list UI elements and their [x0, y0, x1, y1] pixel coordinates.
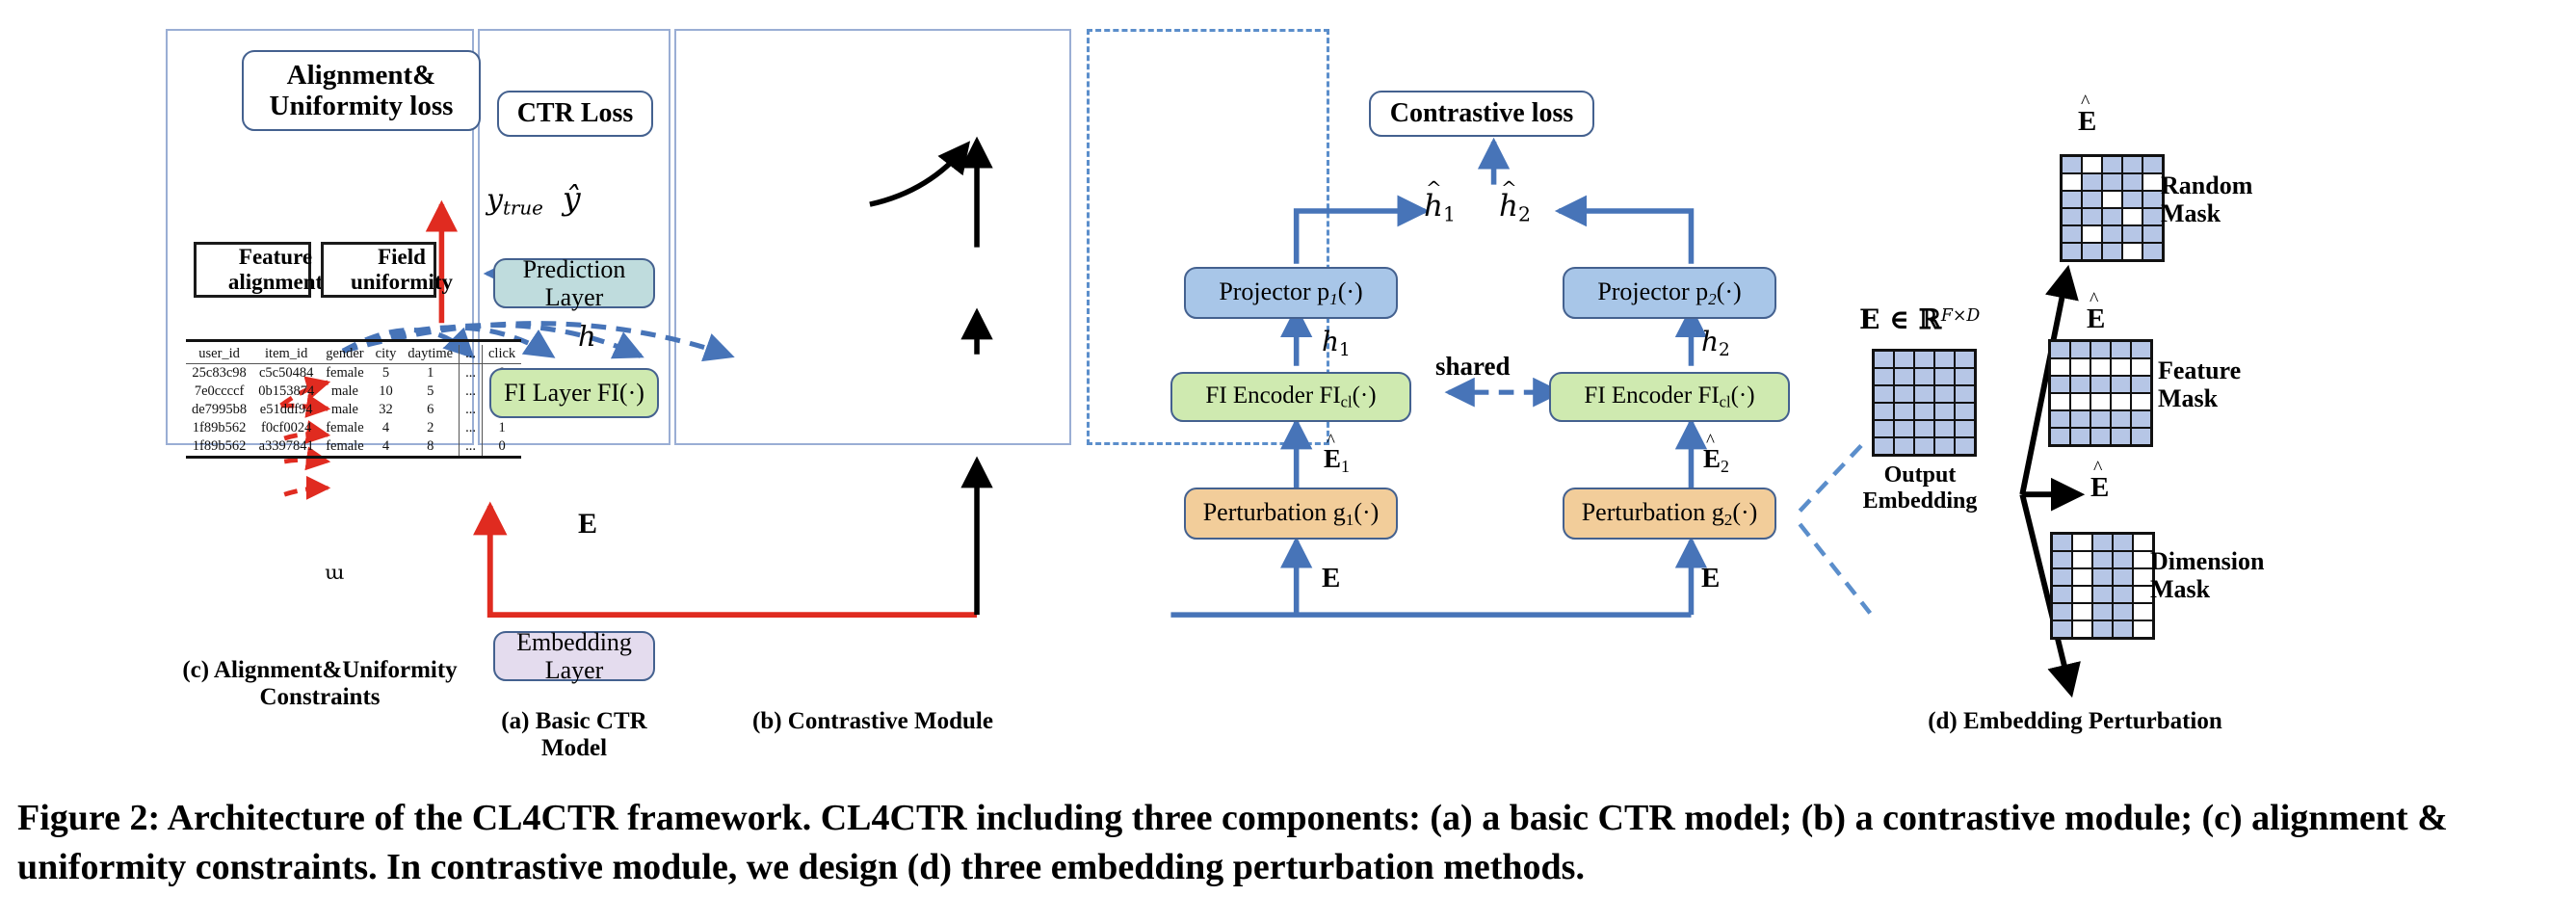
- table-cell: 1f89b562: [186, 419, 252, 437]
- y-true-label: ytrue: [486, 183, 543, 220]
- output-embedding-label: Output Embedding: [1833, 462, 2007, 514]
- grid-cell: [1915, 438, 1933, 454]
- h-hat-2-label: ^ h2: [1499, 189, 1531, 226]
- grid-cell: [2134, 621, 2152, 637]
- embedding-layer-label: Embedding Layer: [495, 628, 653, 684]
- grid-cell: [2083, 157, 2101, 172]
- perturbation-1-label: Perturbation g1(·): [1203, 498, 1380, 529]
- h1-label: h1: [1322, 326, 1351, 360]
- grid-cell: [2143, 174, 2162, 190]
- fi-layer-box: FI Layer FI(·): [489, 368, 659, 418]
- grid-cell: [2053, 535, 2071, 550]
- feature-mask-line1: Feature: [2158, 356, 2341, 384]
- grid-cell: [2093, 569, 2112, 585]
- grid-cell: [1895, 369, 1913, 384]
- table-cell: 5: [402, 382, 459, 401]
- e-hat-label-feature: ^ E: [2087, 303, 2105, 335]
- panel-c-label-line1: (c) Alignment&Uniformity: [175, 657, 464, 684]
- table-cell: e51ddf94: [252, 401, 320, 419]
- table-cell: ...: [460, 401, 483, 419]
- projector-1-box: Projector p1(·): [1184, 267, 1398, 319]
- dimension-mask-grid: [2050, 532, 2155, 640]
- panel-a-label-text: (a) Basic CTR Model: [501, 708, 646, 761]
- ctr-loss-label: CTR Loss: [517, 98, 634, 128]
- grid-cell: [1935, 421, 1954, 436]
- grid-cell: [2071, 394, 2090, 409]
- table-cell: 25c83c98: [186, 364, 252, 383]
- grid-cell: [1875, 404, 1893, 419]
- grid-cell: [2143, 157, 2162, 172]
- grid-cell: [2114, 552, 2132, 567]
- grid-cell: [1915, 369, 1933, 384]
- table-col-header: city: [370, 345, 403, 364]
- table-cell: male: [320, 382, 369, 401]
- table-cell: 5: [370, 364, 403, 383]
- grid-cell: [1935, 438, 1954, 454]
- h-hat-1-label: ^ h1: [1424, 189, 1456, 226]
- grid-cell: [2053, 587, 2071, 602]
- table-cell: female: [320, 419, 369, 437]
- shared-label: shared: [1435, 352, 1511, 382]
- grid-cell: [2093, 552, 2112, 567]
- grid-cell: [2123, 174, 2142, 190]
- grid-cell: [2091, 429, 2110, 444]
- grid-cell: [2112, 377, 2130, 392]
- grid-cell: [2103, 157, 2121, 172]
- grid-cell: [2051, 359, 2069, 375]
- grid-cell: [2091, 394, 2110, 409]
- fi-encoder-2-box: FI Encoder FIcl(·): [1549, 372, 1790, 422]
- grid-cell: [2073, 552, 2091, 567]
- grid-cell: [2132, 359, 2150, 375]
- field-uniformity-box: Field uniformity: [321, 242, 436, 298]
- grid-cell: [2051, 429, 2069, 444]
- alignment-uniformity-loss-box: Alignment& Uniformity loss: [242, 50, 481, 131]
- grid-cell: [2132, 394, 2150, 409]
- grid-cell: [2114, 569, 2132, 585]
- grid-cell: [1875, 386, 1893, 402]
- grid-cell: [2063, 226, 2081, 242]
- feature-mask-line2: Mask: [2158, 384, 2341, 412]
- panel-c-label: (c) Alignment&Uniformity Constraints: [175, 657, 464, 711]
- e-hat-2-label: ^ E2: [1703, 444, 1729, 477]
- grid-cell: [2112, 411, 2130, 427]
- grid-cell: [2083, 226, 2101, 242]
- table-cell: ...: [460, 419, 483, 437]
- random-mask-line2: Mask: [2161, 199, 2344, 227]
- grid-cell: [2051, 411, 2069, 427]
- grid-cell: [2123, 209, 2142, 224]
- grid-cell: [2132, 342, 2150, 357]
- grid-cell: [1956, 386, 1974, 402]
- random-mask-grid: [2060, 154, 2165, 262]
- grid-cell: [2071, 377, 2090, 392]
- grid-cell: [1915, 404, 1933, 419]
- table-col-header: gender: [320, 345, 369, 364]
- grid-cell: [2143, 192, 2162, 207]
- table-cell: c5c50484: [252, 364, 320, 383]
- grid-cell: [2132, 377, 2150, 392]
- table-row: de7995b8 e51ddf94 male 32 6 ... 1: [186, 401, 521, 419]
- grid-cell: [2073, 569, 2091, 585]
- grid-cell: [2051, 377, 2069, 392]
- grid-cell: [2103, 209, 2121, 224]
- table-cell: 0b153874: [252, 382, 320, 401]
- grid-cell: [2091, 411, 2110, 427]
- y-true-symbol: y: [486, 183, 503, 217]
- panel-d-label-text: (d) Embedding Perturbation: [1928, 708, 2222, 734]
- panel-b-contrastive-module: [674, 29, 1071, 445]
- e-input-1-label: E: [1322, 563, 1340, 594]
- projector-2-label: Projector p2(·): [1597, 277, 1741, 308]
- output-embedding-line1: Output: [1833, 462, 2007, 488]
- table-cell: female: [320, 437, 369, 458]
- grid-cell: [2091, 342, 2110, 357]
- table-cell: 4: [370, 419, 403, 437]
- table-cell: 1f89b562: [186, 437, 252, 458]
- grid-cell: [2103, 174, 2121, 190]
- y-hat-label: ŷ: [563, 179, 581, 217]
- feature-alignment-line1: Feature: [239, 245, 312, 270]
- fi-encoder-2-label: FI Encoder FIcl(·): [1584, 382, 1754, 411]
- grid-cell: [2112, 359, 2130, 375]
- grid-cell: [2114, 621, 2132, 637]
- random-mask-label: Random Mask: [2161, 171, 2344, 227]
- grid-cell: [2123, 226, 2142, 242]
- e-hat-label-dimension: ^ E: [2090, 472, 2109, 504]
- h2-label: h2: [1701, 326, 1730, 360]
- table-cell: 0: [482, 437, 521, 458]
- panel-b-label-text: (b) Contrastive Module: [752, 708, 993, 734]
- field-uniformity-line1: Field: [378, 245, 426, 270]
- grid-cell: [2132, 429, 2150, 444]
- feature-table: user_id item_id gender city daytime ... …: [186, 339, 521, 461]
- table-cell: 1: [482, 419, 521, 437]
- perturbation-2-label: Perturbation g2(·): [1582, 498, 1758, 529]
- grid-cell: [1875, 421, 1893, 436]
- e-hat-label-random: ^ E: [2078, 106, 2096, 138]
- table-cell: 1: [402, 364, 459, 383]
- output-embedding-line2: Embedding: [1833, 488, 2007, 514]
- grid-cell: [1956, 404, 1974, 419]
- table-cell: ...: [460, 364, 483, 383]
- grid-cell: [1935, 404, 1954, 419]
- e-label-panel-a: E: [578, 508, 597, 541]
- table-row: 1f89b562 f0cf0024 female 4 2 ... 1: [186, 419, 521, 437]
- fi-layer-label: FI Layer FI(·): [504, 379, 644, 407]
- grid-cell: [2063, 192, 2081, 207]
- grid-cell: [2073, 621, 2091, 637]
- grid-cell: [2093, 535, 2112, 550]
- grid-cell: [2073, 604, 2091, 620]
- dimension-mask-line2: Mask: [2150, 575, 2372, 603]
- grid-cell: [2123, 192, 2142, 207]
- grid-cell: [1875, 352, 1893, 367]
- grid-cell: [2093, 587, 2112, 602]
- grid-cell: [2053, 621, 2071, 637]
- grid-cell: [2093, 621, 2112, 637]
- grid-cell: [1895, 386, 1913, 402]
- embedding-layer-box: Embedding Layer: [493, 631, 655, 681]
- grid-cell: [2071, 359, 2090, 375]
- grid-cell: [2083, 244, 2101, 259]
- grid-cell: [2083, 174, 2101, 190]
- grid-cell: [2073, 535, 2091, 550]
- h-label-panel-a: h: [578, 320, 596, 353]
- panel-d-label: (d) Embedding Perturbation: [1857, 708, 2293, 735]
- grid-cell: [1956, 352, 1974, 367]
- grid-cell: [2071, 429, 2090, 444]
- table-cell: 2: [402, 419, 459, 437]
- alignment-uniformity-loss-line1: Alignment&: [287, 60, 436, 91]
- prediction-layer-label: Prediction Layer: [495, 255, 653, 311]
- grid-cell: [2051, 342, 2069, 357]
- grid-cell: [1875, 369, 1893, 384]
- grid-cell: [2123, 157, 2142, 172]
- grid-cell: [2053, 552, 2071, 567]
- grid-cell: [2112, 429, 2130, 444]
- output-embedding-grid: [1872, 349, 1977, 457]
- grid-cell: [2071, 342, 2090, 357]
- perturbation-2-box: Perturbation g2(·): [1563, 488, 1776, 540]
- grid-cell: [2103, 192, 2121, 207]
- table-cell: female: [320, 364, 369, 383]
- table-col-header: ...: [460, 345, 483, 364]
- embedding-space-label: E ∈ ℝF×D: [1859, 303, 1980, 335]
- random-mask-line1: Random: [2161, 171, 2344, 199]
- grid-cell: [2053, 569, 2071, 585]
- table-col-header: daytime: [402, 345, 459, 364]
- grid-cell: [2134, 604, 2152, 620]
- h-hat-2-subscript: 2: [1518, 203, 1531, 226]
- grid-cell: [2132, 411, 2150, 427]
- grid-cell: [2063, 174, 2081, 190]
- grid-cell: [2091, 377, 2110, 392]
- prediction-layer-box: Prediction Layer: [493, 258, 655, 308]
- contrastive-loss-label: Contrastive loss: [1390, 98, 1574, 128]
- grid-cell: [2063, 244, 2081, 259]
- perturbation-1-box: Perturbation g1(·): [1184, 488, 1398, 540]
- grid-cell: [1956, 369, 1974, 384]
- feature-alignment-line2: alignment: [228, 270, 323, 295]
- grid-cell: [2093, 604, 2112, 620]
- table-col-header: item_id: [252, 345, 320, 364]
- table-row: 1f89b562 a3397841 female 4 8 ... 0: [186, 437, 521, 458]
- fi-encoder-1-box: FI Encoder FIcl(·): [1170, 372, 1411, 422]
- embedding-space-text: E ∈ ℝ: [1859, 303, 1941, 335]
- grid-cell: [1895, 404, 1913, 419]
- grid-cell: [2143, 226, 2162, 242]
- grid-cell: [1895, 352, 1913, 367]
- feature-alignment-box: Feature alignment: [194, 242, 311, 298]
- table-cell: a3397841: [252, 437, 320, 458]
- grid-cell: [2083, 192, 2101, 207]
- grid-cell: [2143, 209, 2162, 224]
- table-cell: ...: [460, 437, 483, 458]
- grid-cell: [1895, 421, 1913, 436]
- grid-cell: [2103, 244, 2121, 259]
- table-cell: 8: [402, 437, 459, 458]
- grid-cell: [1935, 352, 1954, 367]
- table-cell: 7e0ccccf: [186, 382, 252, 401]
- y-true-subscript: true: [503, 198, 543, 220]
- ctr-loss-box: CTR Loss: [497, 91, 653, 137]
- grid-cell: [1875, 438, 1893, 454]
- feature-mask-label: Feature Mask: [2158, 356, 2341, 412]
- panel-c-label-line2: Constraints: [175, 684, 464, 711]
- grid-cell: [1915, 386, 1933, 402]
- figure-caption: Figure 2: Architecture of the CL4CTR fra…: [17, 794, 2561, 892]
- table-cell: 10: [370, 382, 403, 401]
- table-cell: 6: [402, 401, 459, 419]
- grid-cell: [2053, 604, 2071, 620]
- panel-b-label: (b) Contrastive Module: [674, 708, 1071, 735]
- grid-cell: [1956, 438, 1974, 454]
- grid-cell: [2114, 587, 2132, 602]
- fi-encoder-1-label: FI Encoder FIcl(·): [1205, 382, 1376, 411]
- grid-cell: [2112, 394, 2130, 409]
- field-uniformity-line2: uniformity: [351, 270, 453, 295]
- e-hat-1-label: ^ E1: [1324, 444, 1350, 477]
- contrastive-loss-box: Contrastive loss: [1369, 91, 1594, 137]
- projector-2-box: Projector p2(·): [1563, 267, 1776, 319]
- table-col-header: click: [482, 345, 521, 364]
- h-hat-1-subscript: 1: [1443, 203, 1456, 226]
- table-col-header: user_id: [186, 345, 252, 364]
- table-row: 7e0ccccf 0b153874 male 10 5 ... 1: [186, 382, 521, 401]
- grid-cell: [2051, 394, 2069, 409]
- grid-cell: [1935, 386, 1954, 402]
- grid-cell: [1935, 369, 1954, 384]
- feature-mask-grid: [2048, 339, 2153, 447]
- table-cell: de7995b8: [186, 401, 252, 419]
- projector-1-label: Projector p1(·): [1219, 277, 1362, 308]
- grid-cell: [1915, 352, 1933, 367]
- grid-cell: [1915, 421, 1933, 436]
- table-cell: ...: [460, 382, 483, 401]
- grid-cell: [2071, 411, 2090, 427]
- table-header-row: user_id item_id gender city daytime ... …: [186, 345, 521, 364]
- dimension-mask-label: Dimension Mask: [2150, 547, 2372, 603]
- e-input-2-label: E: [1701, 563, 1720, 594]
- grid-cell: [2083, 209, 2101, 224]
- table-cell: 32: [370, 401, 403, 419]
- grid-cell: [2143, 244, 2162, 259]
- dimension-mask-line1: Dimension: [2150, 547, 2372, 575]
- grid-cell: [2063, 209, 2081, 224]
- grid-cell: [2091, 359, 2110, 375]
- table-cell: male: [320, 401, 369, 419]
- grid-cell: [2114, 604, 2132, 620]
- grid-cell: [2123, 244, 2142, 259]
- grid-cell: [1956, 421, 1974, 436]
- table-row: 25c83c98 c5c50484 female 5 1 ... 0: [186, 364, 521, 383]
- table-cell: f0cf0024: [252, 419, 320, 437]
- embedding-double-struck-label: ᵚ: [325, 560, 345, 598]
- table-cell: 4: [370, 437, 403, 458]
- grid-cell: [2112, 342, 2130, 357]
- embedding-space-superscript: F×D: [1941, 306, 1981, 326]
- grid-cell: [2073, 587, 2091, 602]
- grid-cell: [2114, 535, 2132, 550]
- grid-cell: [2063, 157, 2081, 172]
- grid-cell: [1895, 438, 1913, 454]
- panel-a-label: (a) Basic CTR Model: [468, 708, 680, 762]
- grid-cell: [2103, 226, 2121, 242]
- alignment-uniformity-loss-line2: Uniformity loss: [270, 91, 454, 121]
